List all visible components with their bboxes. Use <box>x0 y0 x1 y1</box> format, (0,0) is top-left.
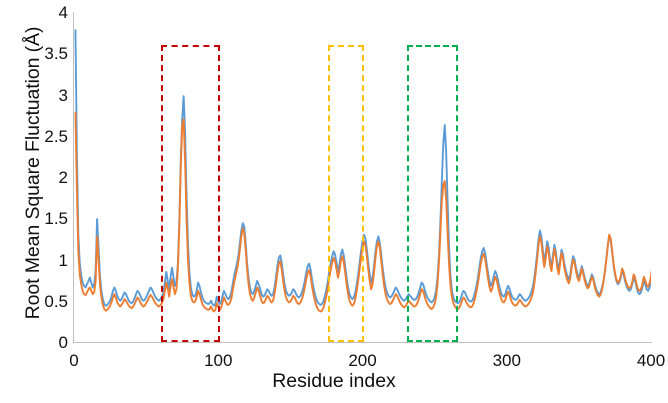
highlight-box-red-region <box>161 45 220 342</box>
highlight-box-green-region <box>407 45 457 342</box>
x-tick-label: 200 <box>333 352 393 369</box>
y-axis-tick-labels: 00.511.522.533.54 <box>22 0 68 403</box>
y-tick-label: 1 <box>28 252 68 269</box>
y-tick-label: 1.5 <box>28 210 68 227</box>
highlight-box-amber-region <box>328 45 364 342</box>
y-tick-label: 3 <box>28 87 68 104</box>
y-tick-label: 0.5 <box>28 293 68 310</box>
y-tick-label: 2 <box>28 169 68 186</box>
y-tick-label: 0 <box>28 334 68 351</box>
x-axis-label: Residue index <box>0 370 668 393</box>
x-tick-label: 400 <box>621 352 668 369</box>
x-axis-line <box>74 342 652 343</box>
y-tick-label: 4 <box>28 4 68 21</box>
x-tick-label: 0 <box>44 352 104 369</box>
x-tick-label: 100 <box>188 352 248 369</box>
y-tick-label: 3.5 <box>28 45 68 62</box>
rmsf-chart-figure: Root Mean Square Fluctuation (Å) 00.511.… <box>0 0 668 403</box>
x-tick-label: 300 <box>477 352 537 369</box>
y-tick-label: 2.5 <box>28 128 68 145</box>
